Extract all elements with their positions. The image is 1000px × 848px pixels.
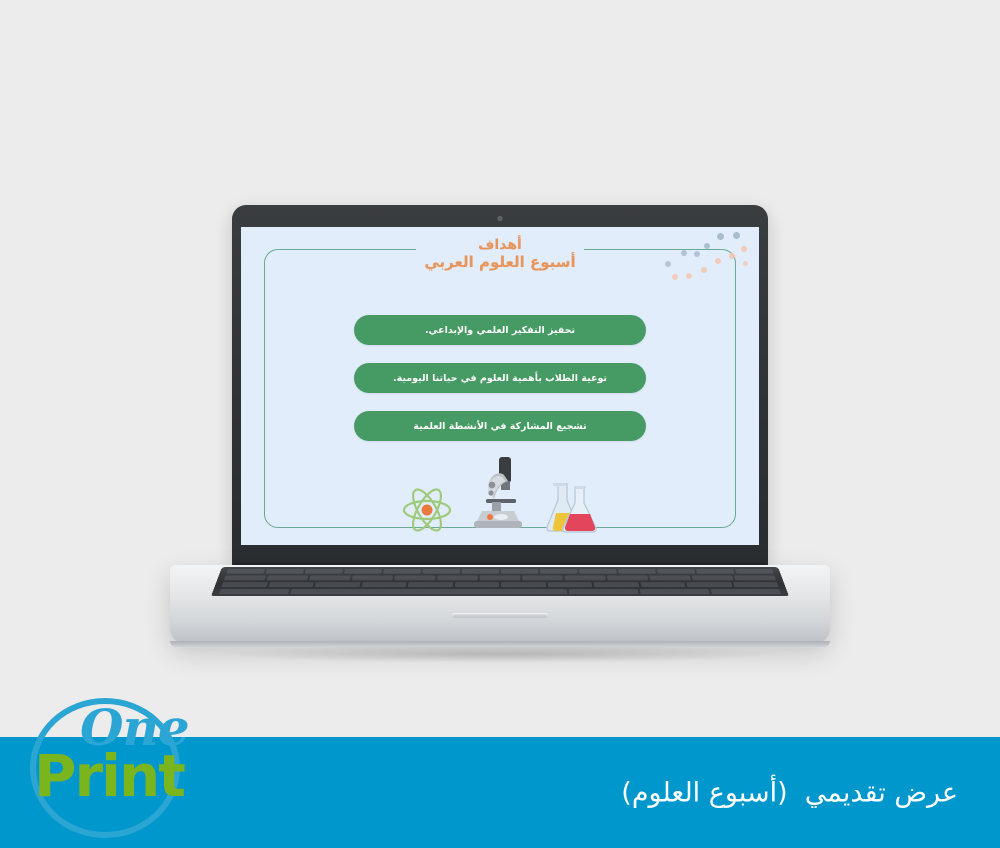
slide-title-line1: أهداف [241, 237, 759, 254]
laptop-shadow [210, 645, 790, 663]
slide-title-line2: أسبوع العلوم العربي [241, 254, 759, 272]
laptop-foot [170, 641, 830, 647]
laptop-keyboard [219, 569, 781, 594]
laptop-mockup: أهداف أسبوع العلوم العربي تحفيز التفكير … [0, 0, 1000, 700]
logo-word-print: Print [34, 742, 184, 810]
goal-pill-3: تشجيع المشاركة في الأنشطة العلمية [354, 411, 646, 441]
slide-title: أهداف أسبوع العلوم العربي [241, 237, 759, 271]
presentation-slide: أهداف أسبوع العلوم العربي تحفيز التفكير … [241, 227, 759, 545]
laptop-base [170, 565, 830, 643]
webcam-dot [498, 216, 503, 221]
laptop-screen: أهداف أسبوع العلوم العربي تحفيز التفكير … [241, 227, 759, 545]
flasks-icon [544, 481, 598, 533]
brand-logo: One Print [18, 692, 190, 842]
laptop-lid: أهداف أسبوع العلوم العربي تحفيز التفكير … [232, 205, 768, 565]
atom-icon [402, 487, 452, 533]
science-icons [241, 449, 759, 533]
microscope-icon [468, 455, 528, 533]
goal-pill-1: تحفيز التفكير العلمي والإبداعي. [354, 315, 646, 345]
banner-title: عرض تقديمي (أسبوع العلوم) [621, 777, 958, 808]
screenshot-root: أهداف أسبوع العلوم العربي تحفيز التفكير … [0, 0, 1000, 848]
goals-list: تحفيز التفكير العلمي والإبداعي. توعية ال… [241, 315, 759, 441]
goal-pill-2: توعية الطلاب بأهمية العلوم في حياتنا الي… [354, 363, 646, 393]
